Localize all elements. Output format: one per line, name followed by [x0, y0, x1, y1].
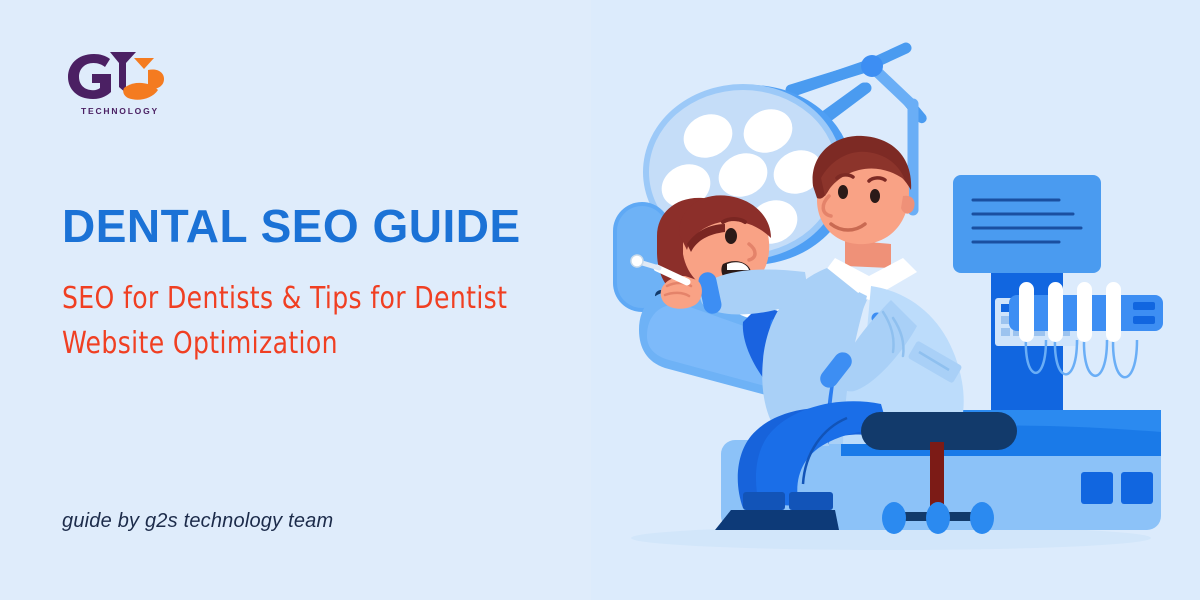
page-subtitle: SEO for Dentists & Tips for Dentist Webs… — [62, 276, 620, 366]
logo-tagline: TECHNOLOGY — [81, 106, 159, 116]
dentist-shoes — [715, 510, 839, 530]
dentist-eye-near — [838, 185, 848, 199]
subtitle-line-1: SEO for Dentists & Tips for Dentist — [62, 276, 620, 321]
byline-text: guide by g2s technology team — [62, 510, 333, 533]
page-title: DENTAL SEO GUIDE — [62, 203, 521, 249]
logo-letter-s — [123, 58, 164, 100]
logo-letter-g — [68, 54, 111, 99]
dentist-illustration — [591, 0, 1200, 600]
dental-seo-guide-banner: TECHNOLOGY DENTAL SEO GUIDE SEO for Dent… — [0, 0, 1200, 600]
g2s-technology-logo[interactable]: TECHNOLOGY — [64, 46, 176, 118]
cart-screen — [953, 175, 1101, 273]
subtitle-line-2: Website Optimization — [62, 321, 620, 366]
lamp-arm-joint — [861, 55, 883, 77]
patient-eye — [725, 228, 737, 244]
stool-casters — [882, 502, 994, 534]
dentist-eye-far — [870, 189, 880, 203]
dentist-neck — [845, 240, 891, 268]
